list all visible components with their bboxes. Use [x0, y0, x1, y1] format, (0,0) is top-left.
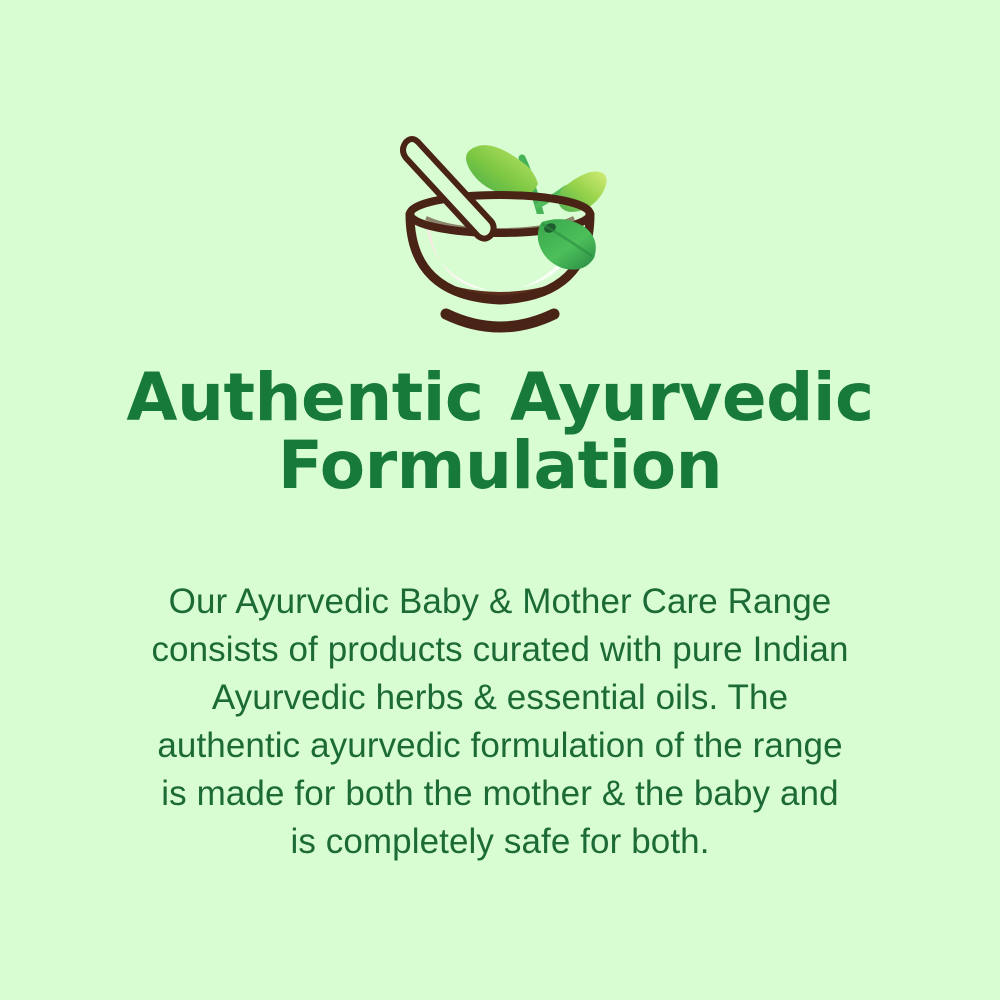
description-line-5: is made for both the mother & the baby a…	[70, 770, 930, 818]
mortar-and-pestle-with-leaves-icon	[370, 118, 630, 348]
page-title-line-2: Formulation	[50, 432, 950, 500]
page-title-line-1: Authentic Ayurvedic	[50, 364, 950, 432]
description-paragraph: Our Ayurvedic Baby & Mother Care Range c…	[70, 578, 930, 866]
description-line-2: consists of products curated with pure I…	[70, 626, 930, 674]
promo-card: Authentic Ayurvedic Formulation Our Ayur…	[0, 0, 1000, 1000]
description-line-1: Our Ayurvedic Baby & Mother Care Range	[70, 578, 930, 626]
description-line-6: is completely safe for both.	[70, 818, 930, 866]
page-title: Authentic Ayurvedic Formulation	[50, 364, 950, 500]
bowl-base-arc	[446, 314, 554, 327]
description-line-4: authentic ayurvedic formulation of the r…	[70, 722, 930, 770]
description-line-3: Ayurvedic herbs & essential oils. The	[70, 674, 930, 722]
leaf-large	[466, 145, 538, 197]
